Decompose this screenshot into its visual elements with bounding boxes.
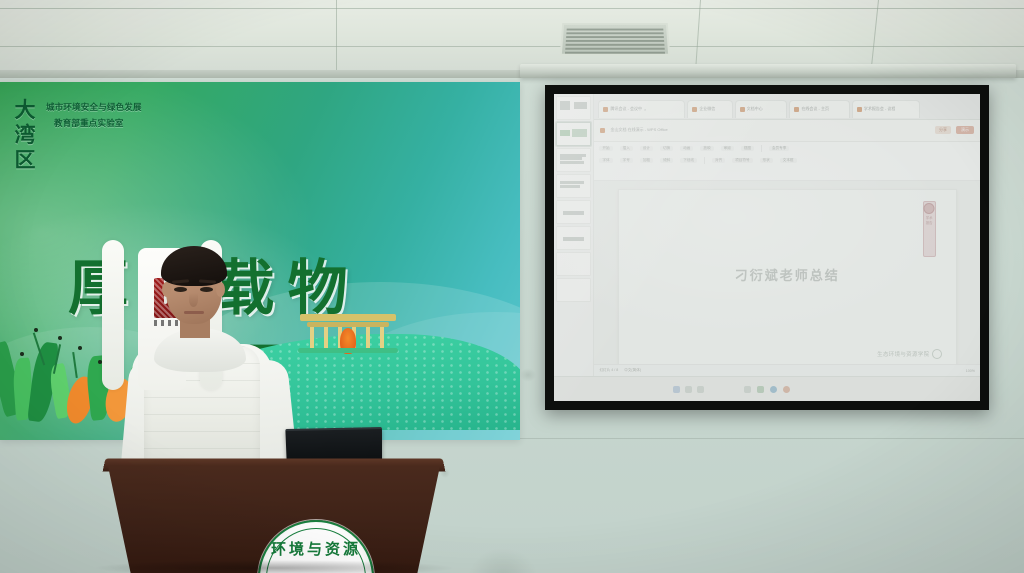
ribbon-control[interactable]: 文本框 — [780, 158, 797, 163]
slide-title-text: 刁衍斌老师总结 — [619, 265, 956, 284]
status-bar: 幻灯片 4 / 8 中文(简体) 100% — [594, 364, 980, 376]
ribbon-control[interactable]: 倾斜 — [660, 158, 673, 163]
browser-tab-label: 腾讯会议 - 会议中 — [610, 106, 642, 112]
tab-favicon-icon — [603, 107, 608, 112]
ribbon-control[interactable]: 下划线 — [680, 158, 697, 163]
slide-thumbnail[interactable] — [556, 148, 591, 172]
slide-thumbnail[interactable] — [556, 252, 591, 276]
ribbon-control[interactable]: 对齐 — [712, 158, 725, 163]
hoodie-graphic-caption — [154, 320, 182, 326]
close-icon[interactable]: × — [644, 107, 646, 112]
seal-text: 学术报告 — [924, 216, 935, 225]
slide-thumbnail-rail[interactable] — [554, 94, 594, 376]
ribbon-control[interactable]: 项目符号 — [732, 158, 752, 163]
browser-tab[interactable]: 在线会议 - 主页 — [789, 100, 849, 118]
taskview-icon[interactable] — [697, 386, 704, 393]
tab-favicon-icon — [794, 107, 799, 112]
slide-thumbnail[interactable] — [556, 122, 591, 146]
browser-tab[interactable]: 学术报告会 - 议程 — [852, 100, 920, 118]
ribbon-tab[interactable]: 插入 — [620, 146, 633, 151]
ribbon-tab[interactable]: 视图 — [741, 146, 754, 151]
projected-desktop: 腾讯会议 - 会议中 × 企业微信 文档中心 在线会议 - 主页 — [554, 94, 980, 401]
browser-tab-bar[interactable]: 腾讯会议 - 会议中 × 企业微信 文档中心 在线会议 - 主页 — [594, 94, 980, 120]
present-button[interactable]: 演示 — [956, 126, 974, 134]
wps-icon[interactable] — [757, 386, 764, 393]
seminar-room-scene: 大湾区 城市环境安全与绿色发展 教育部重点实验室 厚德载物 求是创新 — [0, 0, 1024, 573]
start-icon[interactable] — [673, 386, 680, 393]
slide-indicator: 幻灯片 4 / 8 — [599, 368, 618, 373]
lab-logo-mark: 大湾区 — [8, 98, 42, 150]
browser-tab-label: 企业微信 — [699, 106, 715, 112]
site-favicon-icon — [600, 128, 605, 133]
eye-right — [200, 287, 213, 292]
tab-favicon-icon — [857, 107, 862, 112]
nose — [189, 293, 198, 307]
ribbon-tab[interactable]: 会员专享 — [769, 146, 789, 151]
slide-canvas-area[interactable]: 刁衍斌老师总结 学术报告 生态环境与资源学院 — [594, 181, 980, 376]
ceiling-air-vent-icon — [560, 23, 671, 56]
projector-screen-housing — [520, 64, 1016, 78]
ribbon-tab[interactable]: 动画 — [680, 146, 693, 151]
ribbon-control[interactable]: 形状 — [760, 158, 773, 163]
projection-screen: 腾讯会议 - 会议中 × 企业微信 文档中心 在线会议 - 主页 — [545, 85, 989, 410]
slide-thumbnail[interactable] — [556, 278, 591, 302]
tab-favicon-icon — [692, 107, 697, 112]
seal-circle-icon — [924, 203, 935, 214]
slide-footer-logo: 生态环境与资源学院 — [877, 349, 942, 359]
windows-taskbar[interactable] — [554, 376, 980, 401]
ribbon-control[interactable]: 加粗 — [640, 158, 653, 163]
presenter-laptop[interactable] — [285, 427, 382, 463]
slide-thumbnail[interactable] — [556, 96, 591, 120]
slide-thumbnail[interactable] — [556, 174, 591, 198]
slide-thumbnail[interactable] — [556, 226, 591, 250]
ear-right — [216, 282, 225, 297]
browser-address-bar[interactable]: 金山文档 在线演示 - WPS Office 分享 演示 — [594, 120, 980, 141]
browser-tab[interactable]: 文档中心 — [735, 100, 788, 118]
ribbon-control[interactable]: 字号 — [620, 158, 633, 163]
current-slide[interactable]: 刁衍斌老师总结 学术报告 生态环境与资源学院 — [618, 189, 957, 368]
eye-left — [174, 287, 187, 292]
slide-footer-text: 生态环境与资源学院 — [877, 350, 929, 358]
browser-tab-label: 文档中心 — [747, 106, 763, 112]
ribbon-tab[interactable]: 开始 — [599, 146, 612, 151]
ribbon-tab[interactable]: 放映 — [700, 146, 713, 151]
ribbon-tab[interactable]: 切换 — [660, 146, 673, 151]
vest-panel-left — [102, 240, 124, 390]
mail-icon[interactable] — [783, 386, 790, 393]
browser-tab[interactable]: 腾讯会议 - 会议中 × — [598, 100, 685, 118]
browser-tab[interactable]: 企业微信 — [687, 100, 732, 118]
ribbon-control[interactable]: 字体 — [599, 158, 612, 163]
slide-thumbnail[interactable] — [556, 200, 591, 224]
mouth — [184, 311, 204, 314]
zoom-level[interactable]: 100% — [966, 369, 975, 373]
lab-logo: 大湾区 城市环境安全与绿色发展 教育部重点实验室 — [4, 96, 164, 156]
share-button[interactable]: 分享 — [935, 126, 951, 134]
office-ribbon[interactable]: 开始 插入 设计 切换 动画 放映 审阅 视图 会员专享 字体 字号 — [594, 142, 980, 182]
address-bar-text: 金山文档 在线演示 - WPS Office — [610, 127, 667, 133]
explorer-icon[interactable] — [744, 386, 751, 393]
ear-left — [162, 282, 171, 297]
browser-icon[interactable] — [770, 386, 777, 393]
slide-seal-stamp: 学术报告 — [923, 201, 936, 257]
school-emblem-icon — [932, 349, 942, 359]
search-icon[interactable] — [685, 386, 692, 393]
tab-favicon-icon — [740, 107, 745, 112]
lab-name-line-2: 教育部重点实验室 — [54, 118, 164, 131]
banner-pavilion-illustration — [300, 314, 396, 354]
browser-tab-label: 在线会议 - 主页 — [801, 106, 829, 112]
ribbon-tab[interactable]: 设计 — [640, 146, 653, 151]
podium-emblem-text: 环境与资源 — [260, 538, 372, 559]
language-indicator[interactable]: 中文(简体) — [624, 368, 641, 373]
lab-name-line-1: 城市环境安全与绿色发展 — [46, 102, 164, 115]
ribbon-tab[interactable]: 审阅 — [721, 146, 734, 151]
browser-tab-label: 学术报告会 - 议程 — [864, 106, 896, 112]
